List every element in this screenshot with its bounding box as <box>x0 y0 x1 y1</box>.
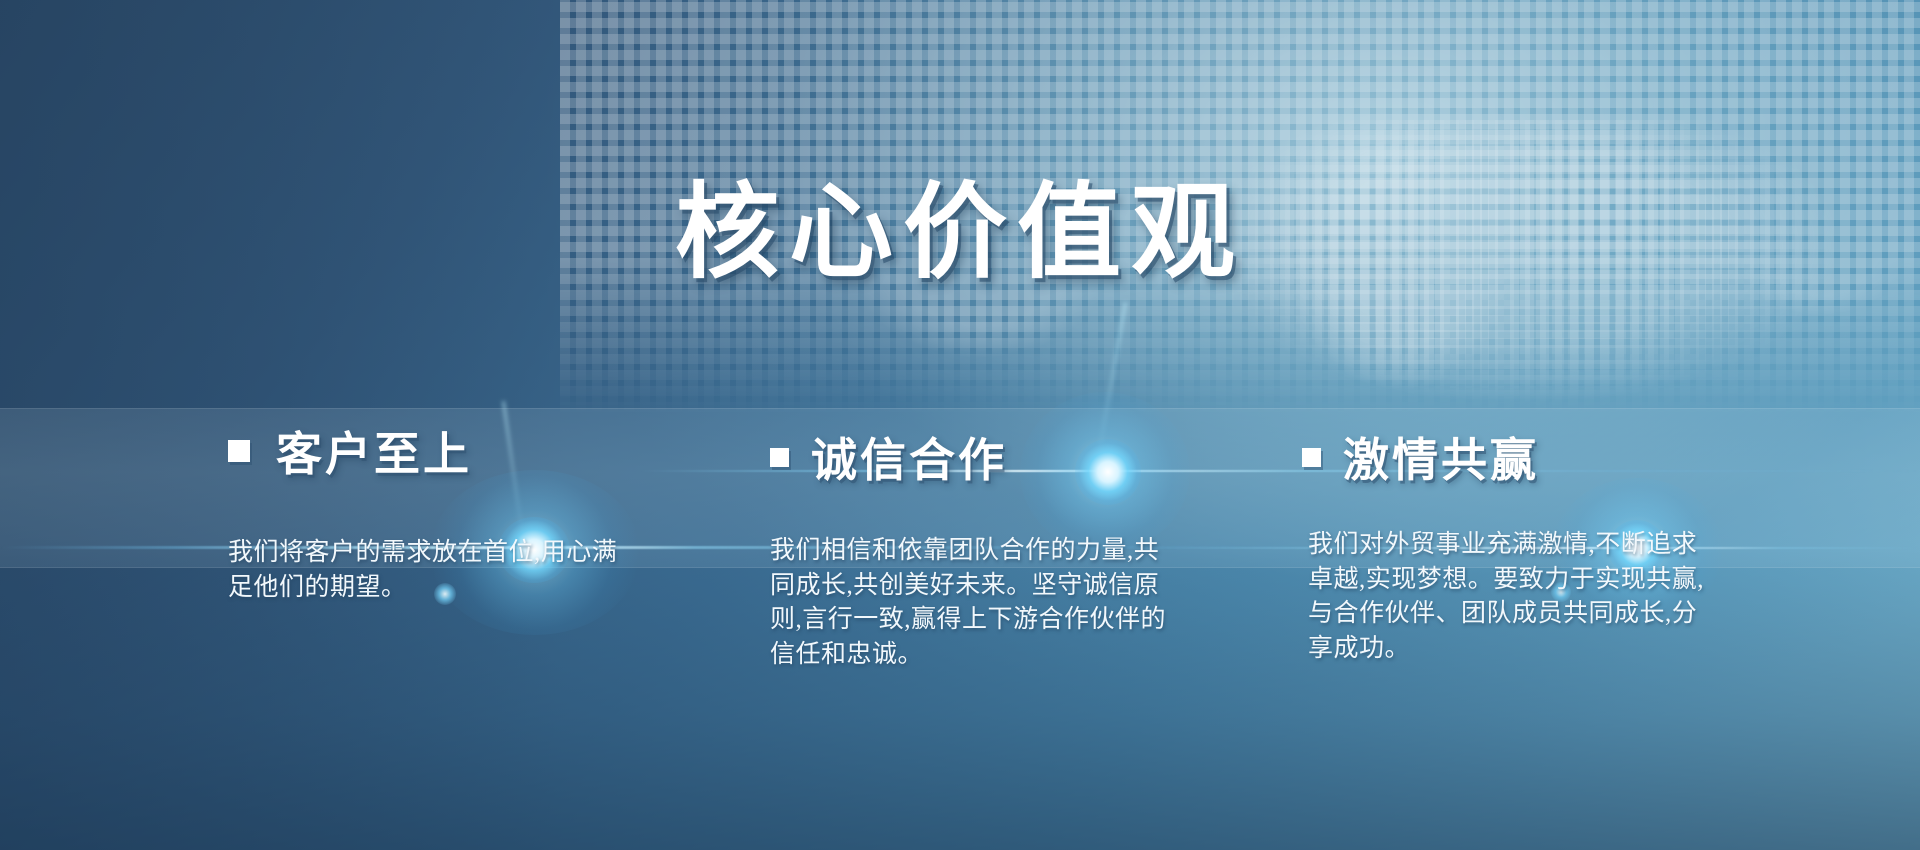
value-heading-3: 激情共赢 <box>1302 424 1539 490</box>
value-body-3: 我们对外贸事业充满激情,不断追求卓越,实现梦想。要致力于实现共赢,与合作伙伴、团… <box>1308 528 1708 666</box>
value-body-1: 我们将客户的需求放在首位,用心满足他们的期望。 <box>228 536 638 605</box>
values-columns: 客户至上 我们将客户的需求放在首位,用心满足他们的期望。 诚信合作 我们相信和依… <box>0 0 1920 850</box>
square-bullet-icon <box>228 440 250 462</box>
value-heading-2: 诚信合作 <box>770 424 1007 490</box>
value-body-2: 我们相信和依靠团队合作的力量,共同成长,共创美好未来。坚守诚信原则,言行一致,赢… <box>770 534 1170 672</box>
value-heading-1-label: 客户至上 <box>276 418 472 484</box>
core-values-banner: 核心价值观 客户至上 我们将客户的需求放在首位,用心满足他们的期望。 诚信合作 … <box>0 0 1920 850</box>
value-heading-1: 客户至上 <box>228 418 472 484</box>
square-bullet-icon <box>1302 448 1321 467</box>
value-heading-2-label: 诚信合作 <box>811 424 1007 490</box>
value-heading-3-label: 激情共赢 <box>1343 424 1539 490</box>
square-bullet-icon <box>770 448 789 467</box>
